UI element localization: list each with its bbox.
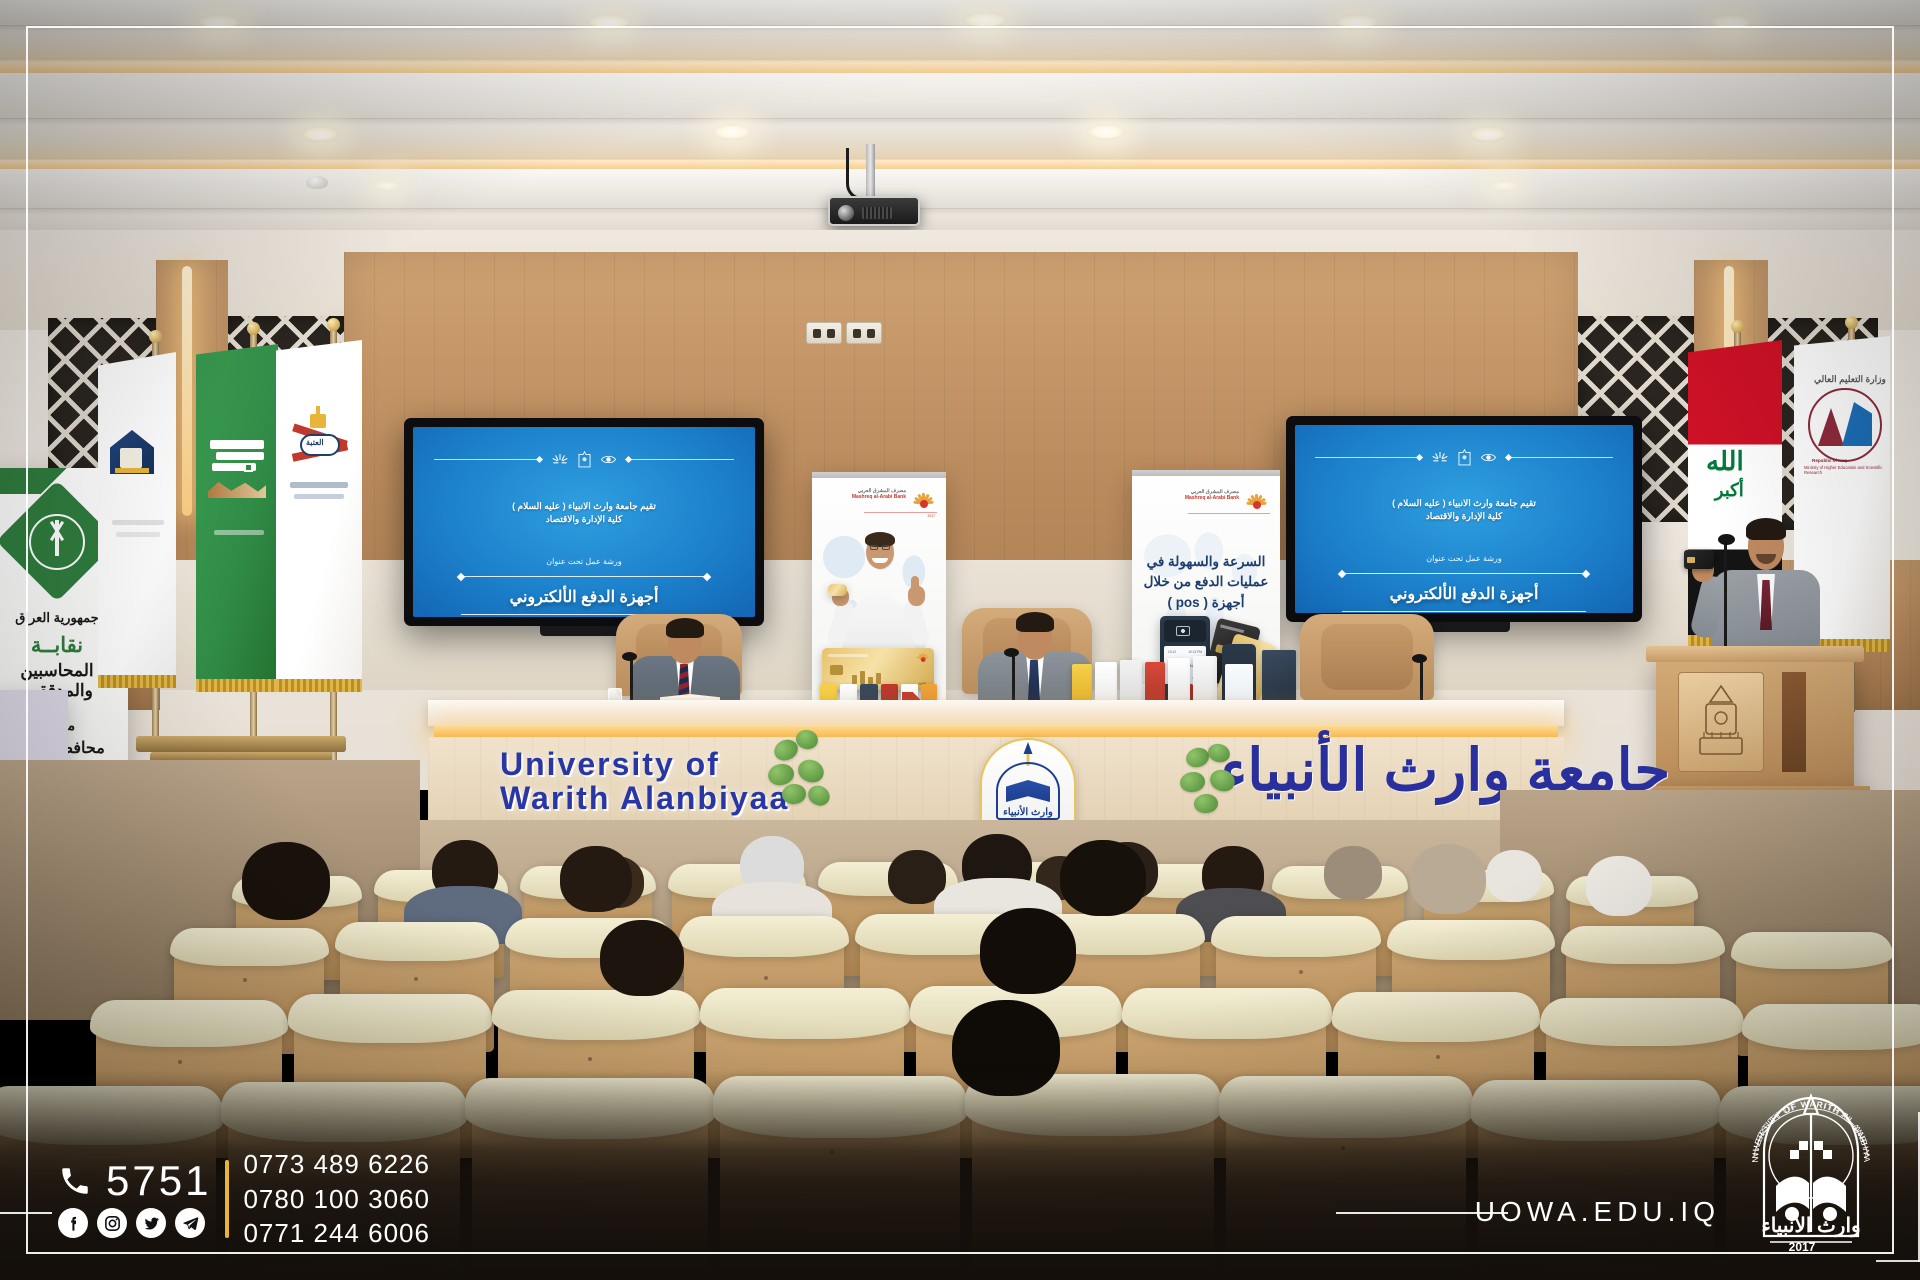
university-of-warith-alanbiyaa-logo: وارث الأنبياء 2017 UNIVERSITY OF WARITH … — [1736, 1090, 1886, 1258]
emblem-sunburst-icon — [1431, 450, 1449, 466]
photo-canvas: تقيم جامعة وارث الانبياء ( عليه السلام )… — [0, 0, 1920, 1280]
audience-head — [1586, 856, 1652, 916]
emblem-shrine-icon — [576, 451, 593, 469]
audience-head — [242, 842, 330, 920]
display-screen-right: تقيم جامعة وارث الانبياء ( عليه السلام )… — [1286, 416, 1642, 622]
contact-block: 5751 — [58, 1149, 430, 1250]
slide-title: أجهزة الدفع الألكتروني — [1342, 584, 1585, 604]
ministry-flag-en2: Ministry of Higher Education and Scienti… — [1804, 465, 1888, 475]
phone-number[interactable]: 0780 100 3060 — [243, 1184, 430, 1216]
phone-number[interactable]: 0771 244 6006 — [243, 1218, 430, 1250]
bank-card-in-hand — [828, 584, 847, 596]
phone-numbers: 0773 489 6226 0780 100 3060 0771 244 600… — [243, 1149, 430, 1250]
speaking-podium — [1656, 654, 1854, 794]
audience-head — [600, 920, 684, 996]
slide-org-line2: كلية الإدارة والاقتصاد — [1392, 510, 1536, 523]
audience-head — [1060, 840, 1146, 916]
logo-arabic-text: وارث الأنبياء — [1761, 1212, 1860, 1238]
decorative-plant-right — [1178, 742, 1254, 824]
slide-org-line1: تقيم جامعة وارث الانبياء ( عليه السلام ) — [1392, 497, 1536, 510]
slide-org-line1: تقيم جامعة وارث الانبياء ( عليه السلام ) — [512, 500, 656, 513]
logo-year: 2017 — [1789, 1240, 1816, 1254]
bank-logo-english: Mashreq al-Arabi Bank — [852, 495, 906, 501]
ceiling-projector — [828, 196, 920, 226]
bank-established-year: 2017 — [927, 514, 935, 518]
facebook-icon[interactable] — [58, 1208, 88, 1238]
slide-org-line2: كلية الإدارة والاقتصاد — [512, 513, 656, 526]
bank-card-held-by-speaker — [1684, 550, 1714, 569]
instagram-icon[interactable] — [97, 1208, 127, 1238]
bank-sunburst-icon — [911, 485, 937, 505]
slide-left: تقيم جامعة وارث الانبياء ( عليه السلام )… — [413, 427, 755, 617]
footer-rule-left — [0, 1212, 52, 1214]
university-seal-on-desk: وارث الأنبياء — [980, 738, 1076, 830]
bank-sunburst-icon — [1244, 486, 1270, 506]
emblem-eye-icon — [600, 451, 617, 468]
website-url[interactable]: UOWA.EDU.IQ — [1475, 1196, 1720, 1228]
logo-bottom-rule — [1876, 1260, 1920, 1262]
footer-divider — [225, 1160, 229, 1238]
desk-sign-english: University of Warith Alanbiyaa — [500, 748, 789, 815]
audience-head — [1410, 844, 1486, 914]
telegram-icon[interactable] — [175, 1208, 205, 1238]
slide-subtitle: ورشة عمل تحت عنوان — [1426, 554, 1502, 563]
phone-number[interactable]: 0773 489 6226 — [243, 1149, 430, 1181]
desk-pos-device — [1222, 644, 1256, 708]
slide-right: تقيم جامعة وارث الانبياء ( عليه السلام )… — [1295, 425, 1633, 613]
display-screen-left: تقيم جامعة وارث الانبياء ( عليه السلام )… — [404, 418, 764, 626]
ministry-flag-en1: Republic of Iraq — [1812, 458, 1847, 463]
audience-head — [980, 908, 1076, 994]
audience-head — [560, 846, 632, 912]
twitter-icon[interactable] — [136, 1208, 166, 1238]
ministry-flag-arabic: وزارة التعليم العالي — [1814, 374, 1886, 385]
decorative-plant-left — [764, 730, 844, 816]
phone-icon — [58, 1164, 92, 1198]
wall-socket — [806, 322, 842, 344]
slide-title: أجهزة الدفع الألكتروني — [461, 587, 707, 607]
wall-sconce-left — [182, 266, 192, 516]
slide-subtitle: ورشة عمل تحت عنوان — [546, 557, 622, 566]
bank-logo-english: Mashreq al-Arabi Bank — [1185, 496, 1239, 502]
audience-head — [1324, 846, 1382, 900]
projector-cable — [846, 148, 880, 200]
social-links[interactable] — [58, 1208, 211, 1238]
banner-mashreq-bank-portrait: مصرف المشرق العربي Mashreq al-Arabi Bank… — [812, 472, 946, 722]
pos-banner-line2: عمليات الدفع من خلال — [1140, 572, 1272, 592]
wall-socket-2 — [846, 322, 882, 344]
emblem-shrine-icon — [1456, 449, 1473, 467]
pos-banner-line1: السرعة والسهولة في — [1140, 552, 1272, 572]
audience-head — [1486, 850, 1542, 902]
ceiling — [0, 0, 1920, 250]
flag-atabat-white-red: العتبة — [276, 340, 362, 692]
head-table-top — [428, 700, 1564, 726]
emblem-sunburst-icon — [551, 452, 569, 468]
hotline-number[interactable]: 5751 — [106, 1160, 211, 1202]
flag-publishing-white — [98, 352, 176, 688]
emblem-eye-icon — [1480, 449, 1497, 466]
pos-banner-line3: أجهزة ( pos ) — [1140, 593, 1272, 613]
podium-shrine-emblem-icon — [1692, 682, 1750, 760]
flag-green-institute — [196, 344, 278, 692]
